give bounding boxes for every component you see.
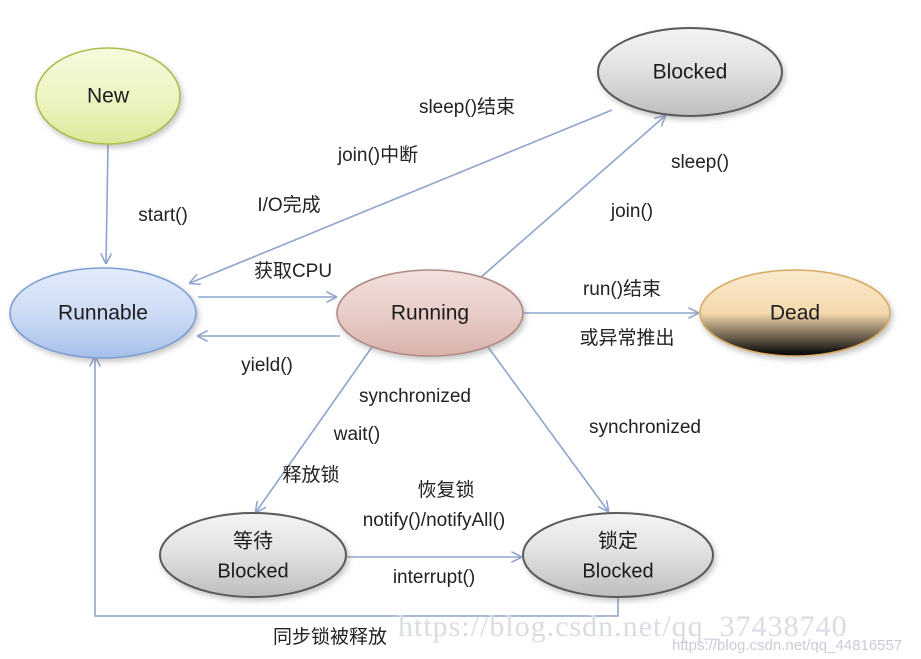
edge-new-to-runnable	[106, 144, 108, 263]
edge-label-start: start()	[138, 205, 188, 226]
edge-blocked-to-runnable	[190, 110, 612, 283]
node-locked-blocked-label-en: Blocked	[582, 560, 653, 582]
node-dead-label: Dead	[770, 302, 820, 325]
edge-label-sleep-end: sleep()结束	[419, 96, 515, 118]
edge-label-abnormal-exit: 或异常推出	[579, 327, 674, 349]
node-waiting-blocked-label-en: Blocked	[217, 560, 288, 582]
edge-label-synchronized-right: synchronized	[589, 417, 701, 438]
edge-label-interrupt: interrupt()	[393, 567, 475, 588]
watermark-secondary: https://blog.csdn.net/qq_44816557	[672, 637, 902, 654]
node-locked-blocked[interactable]: 锁定 Blocked	[523, 513, 713, 597]
edge-label-release-lock: 释放锁	[282, 464, 339, 486]
node-runnable-label: Runnable	[58, 302, 148, 325]
edge-label-join-interrupt: join()中断	[337, 144, 418, 166]
node-running-label: Running	[391, 302, 469, 325]
edge-label-io-done: I/O完成	[257, 194, 320, 216]
node-running[interactable]: Running	[337, 270, 523, 356]
edge-label-sync-lock-released: 同步锁被释放	[273, 626, 387, 648]
edge-label-synchronized-left: synchronized	[359, 386, 471, 407]
node-waiting-blocked[interactable]: 等待 Blocked	[160, 513, 346, 597]
edge-label-run-end: run()结束	[583, 278, 661, 300]
edge-label-sleep: sleep()	[671, 152, 729, 173]
watermark-layer: https://blog.csdn.net/qq_37438740 https:…	[398, 610, 902, 654]
node-waiting-blocked-label-cn: 等待	[233, 529, 273, 552]
node-runnable[interactable]: Runnable	[10, 268, 196, 358]
node-dead[interactable]: Dead	[700, 270, 890, 356]
edge-label-join: join()	[610, 201, 653, 222]
edge-label-yield: yield()	[241, 355, 293, 376]
node-new-label: New	[87, 85, 130, 108]
node-new[interactable]: New	[36, 48, 180, 144]
edge-label-get-cpu: 获取CPU	[254, 260, 332, 282]
node-blocked-label: Blocked	[653, 61, 728, 84]
edge-label-restore-lock: 恢复锁	[417, 479, 474, 501]
diagram-canvas: New Runnable Running Dead Blocked	[0, 0, 921, 659]
node-locked-blocked-shape[interactable]	[523, 513, 713, 597]
node-waiting-blocked-shape[interactable]	[160, 513, 346, 597]
thread-state-diagram: New Runnable Running Dead Blocked	[0, 0, 921, 659]
edge-label-notify: notify()/notifyAll()	[363, 510, 506, 531]
edge-running-to-blocked	[480, 116, 665, 278]
node-locked-blocked-label-cn: 锁定	[598, 529, 638, 552]
node-blocked[interactable]: Blocked	[598, 28, 782, 116]
edge-label-wait: wait()	[333, 424, 380, 445]
